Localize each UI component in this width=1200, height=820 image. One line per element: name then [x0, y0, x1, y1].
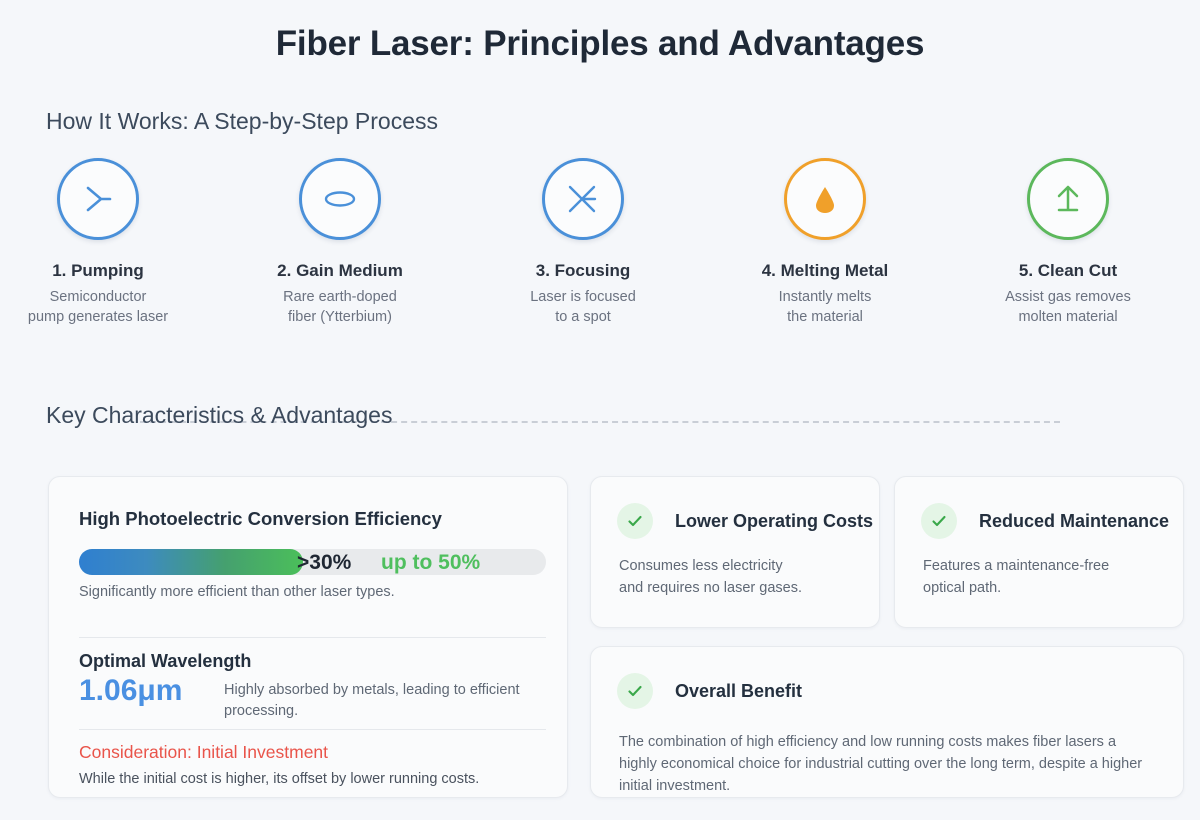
converging-beams-icon: [561, 177, 605, 221]
step-label-4: 4. Melting Metal: [755, 261, 896, 281]
droplet-icon: [803, 177, 847, 221]
efficiency-bar: >30% up to 50%: [79, 549, 546, 575]
section-heading-key: Key Characteristics & Advantages: [46, 402, 392, 429]
characteristics-card: High Photoelectric Conversion Efficiency…: [48, 476, 568, 798]
step-item-3: 3. Focusing Laser is focused to a spot: [483, 158, 683, 327]
infographic-page: Fiber Laser: Principles and Advantages H…: [0, 0, 1200, 820]
wavelength-value: 1.06μm: [79, 673, 182, 709]
step-icon-circle-3: [542, 158, 624, 240]
step-item-5: 5. Clean Cut Assist gas removes molten m…: [968, 158, 1168, 327]
efficiency-bar-value: >30%: [297, 550, 351, 575]
benefit-body: The combination of high efficiency and l…: [619, 731, 1153, 797]
check-icon: [921, 503, 957, 539]
wavelength-desc: Highly absorbed by metals, leading to ef…: [224, 680, 549, 722]
section-heading-process: How It Works: A Step-by-Step Process: [46, 108, 438, 135]
consideration-title: Consideration: Initial Investment: [79, 742, 328, 763]
step-desc-1: Semiconductor pump generates laser: [0, 287, 198, 327]
step-desc-4: Instantly melts the material: [725, 287, 925, 327]
benefit-title: Overall Benefit: [675, 677, 802, 705]
page-title: Fiber Laser: Principles and Advantages: [0, 24, 1200, 64]
benefit-card-overall: Overall Benefit The combination of high …: [590, 646, 1184, 798]
benefit-title: Lower Operating Costs: [675, 507, 873, 535]
step-icon-circle-1: [57, 158, 139, 240]
consideration-desc: While the initial cost is higher, its of…: [79, 771, 479, 787]
benefit-title: Reduced Maintenance: [979, 507, 1169, 535]
step-label-5: 5. Clean Cut: [1012, 261, 1124, 281]
benefit-card-reduced-maintenance: Reduced Maintenance Features a maintenan…: [894, 476, 1184, 628]
step-desc-3: Laser is focused to a spot: [483, 287, 683, 327]
step-desc-2: Rare earth-doped fiber (Ytterbium): [240, 287, 440, 327]
up-arrow-icon: [1046, 177, 1090, 221]
efficiency-title: High Photoelectric Conversion Efficiency: [79, 508, 442, 530]
merge-arrow-icon: [76, 177, 120, 221]
step-icon-circle-2: [299, 158, 381, 240]
step-item-4: 4. Melting Metal Instantly melts the mat…: [725, 158, 925, 327]
ellipse-icon: [318, 177, 362, 221]
card-divider-1: [79, 637, 546, 638]
step-label-3: 3. Focusing: [529, 261, 637, 281]
check-icon: [617, 673, 653, 709]
card-divider-2: [79, 729, 546, 730]
step-item-1: 1. Pumping Semiconductor pump generates …: [0, 158, 198, 327]
efficiency-note: Significantly more efficient than other …: [79, 584, 395, 600]
step-icon-circle-5: [1027, 158, 1109, 240]
wavelength-title: Optimal Wavelength: [79, 651, 251, 672]
step-item-2: 2. Gain Medium Rare earth-doped fiber (Y…: [240, 158, 440, 327]
step-icon-circle-4: [784, 158, 866, 240]
step-label-2: 2. Gain Medium: [270, 261, 410, 281]
check-icon: [617, 503, 653, 539]
benefit-body: Consumes less electricity and requires n…: [619, 555, 855, 599]
step-label-1: 1. Pumping: [45, 261, 151, 281]
benefit-body: Features a maintenance-free optical path…: [923, 555, 1159, 599]
efficiency-bar-upto: up to 50%: [381, 550, 480, 575]
process-steps: 1. Pumping Semiconductor pump generates …: [0, 158, 1200, 333]
step-desc-5: Assist gas removes molten material: [968, 287, 1168, 327]
efficiency-bar-fill: [79, 549, 303, 575]
benefit-card-lower-operating-costs: Lower Operating Costs Consumes less elec…: [590, 476, 880, 628]
